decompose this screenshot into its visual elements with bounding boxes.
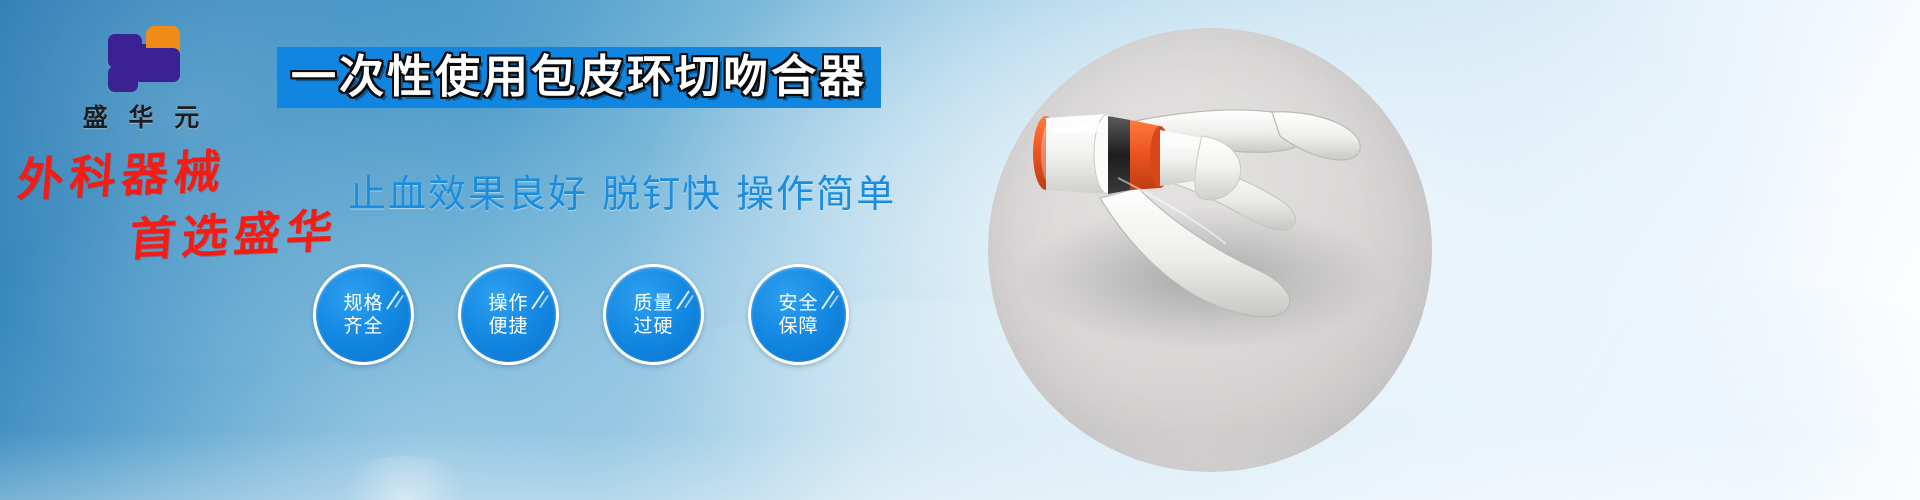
feature-circle-3[interactable]: 质量 过硬	[603, 264, 704, 365]
product-photo	[988, 28, 1432, 472]
main-title: 一次性使用包皮环切吻合器	[291, 53, 867, 100]
logo-square-purple-bottom	[108, 66, 138, 92]
feature-circle-2[interactable]: 操作 便捷	[458, 264, 559, 365]
bottom-glow	[330, 456, 480, 500]
logo-square-purple-right	[134, 48, 180, 82]
logo-mark-icon	[108, 26, 180, 92]
feature-4-line-1: 安全	[778, 292, 818, 314]
feature-circle-1[interactable]: 规格 齐全	[313, 264, 414, 365]
feature-2-line-1: 操作	[488, 292, 528, 314]
promo-banner: 盛 华 元 外科器械 首选盛华 一次性使用包皮环切吻合器 止血效果良好 脱钉快 …	[0, 0, 1920, 500]
feature-3-line-2: 过硬	[633, 315, 673, 337]
calligraphy-slogan: 外科器械 首选盛华	[18, 150, 338, 258]
feature-3-line-1: 质量	[633, 292, 673, 314]
product-illustration-icon	[988, 28, 1432, 472]
background-glow-right	[1450, 280, 1920, 500]
feature-2-line-2: 便捷	[488, 315, 528, 337]
main-title-bar: 一次性使用包皮环切吻合器	[277, 47, 881, 108]
bottom-fade	[0, 430, 1920, 500]
brand-logo[interactable]: 盛 华 元	[64, 26, 224, 134]
brand-name: 盛 华 元	[64, 98, 224, 134]
feature-1-line-1: 规格	[343, 292, 383, 314]
calligraphy-line-2: 首选盛华	[128, 207, 341, 262]
feature-4-line-2: 保障	[778, 315, 818, 337]
subtitle: 止血效果良好 脱钉快 操作简单	[348, 163, 896, 218]
feature-circle-list: 规格 齐全 操作 便捷 质量 过硬 安全 保障	[313, 264, 849, 365]
calligraphy-line-1: 外科器械	[15, 143, 340, 203]
feature-circle-4[interactable]: 安全 保障	[748, 264, 849, 365]
feature-1-line-2: 齐全	[343, 315, 383, 337]
